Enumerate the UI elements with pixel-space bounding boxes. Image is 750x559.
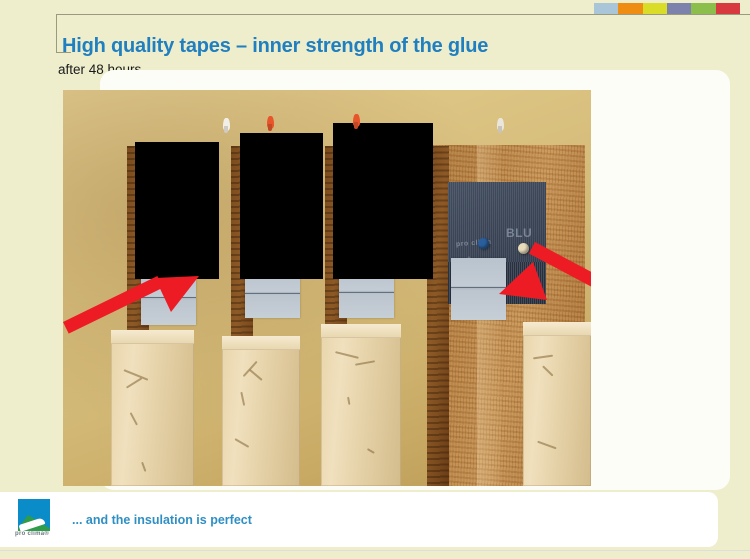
color-segment-orange [618, 3, 642, 14]
wood-block-3-scratch-b [355, 360, 375, 365]
wood-block-3-scratch-d [367, 448, 375, 453]
wood-block-2-scratch-b [249, 369, 262, 380]
color-segment-yellow-green [643, 3, 667, 14]
presentation-slide: High quality tapes – inner strength of t… [0, 0, 750, 559]
white-pin-2-icon [497, 118, 504, 131]
orange-pin-2-icon [353, 114, 360, 127]
left-red-arrow [63, 260, 219, 350]
white-pin-1-icon [223, 118, 230, 131]
wood-block-1-scratch-d [142, 462, 147, 472]
wood-block-4-scratch-a [533, 355, 553, 359]
wood-block-4-top [523, 322, 591, 336]
decorative-color-bar [594, 3, 740, 14]
redaction-box-2 [240, 133, 323, 279]
orange-pin-icon [267, 116, 274, 129]
footer-tagline: ... and the insulation is perfect [72, 513, 252, 527]
slide-bottom-strip [0, 550, 750, 559]
tape-adhesion-test-photograph: pro clima BLU [63, 90, 591, 486]
wood-block-2-scratch-c [241, 392, 245, 406]
redaction-box-1 [135, 142, 219, 279]
header-rule [56, 14, 750, 15]
wood-block-4-scratch-c [537, 441, 556, 449]
wood-block-3-scratch-c [348, 397, 351, 405]
wood-block-4 [523, 322, 591, 486]
wood-block-4-scratch-b [542, 365, 553, 376]
color-segment-green [691, 3, 715, 14]
wood-block-1 [111, 330, 194, 486]
wood-block-3-top [321, 324, 401, 338]
page-title: High quality tapes – inner strength of t… [62, 35, 702, 58]
right-red-arrow [493, 238, 591, 318]
wood-block-2 [222, 336, 300, 486]
wood-block-3-scratch-a [335, 351, 359, 358]
color-segment-slate-blue [667, 3, 691, 14]
color-segment-light-blue [594, 3, 618, 14]
wood-block-3 [321, 324, 401, 486]
logo-square [18, 499, 50, 531]
wood-block-1-scratch-b [126, 377, 142, 388]
pro-clima-logo: pro clima® [14, 499, 56, 541]
wood-block-1-scratch-c [130, 412, 138, 425]
wood-block-2-scratch-d [235, 438, 250, 447]
redaction-box-3 [333, 123, 433, 279]
wood-block-1-scratch-a [124, 369, 149, 380]
logo-wordmark: pro clima® [15, 531, 49, 537]
wood-block-2-top [222, 336, 300, 350]
color-segment-red [716, 3, 740, 14]
blue-round-pin-icon [478, 238, 489, 249]
